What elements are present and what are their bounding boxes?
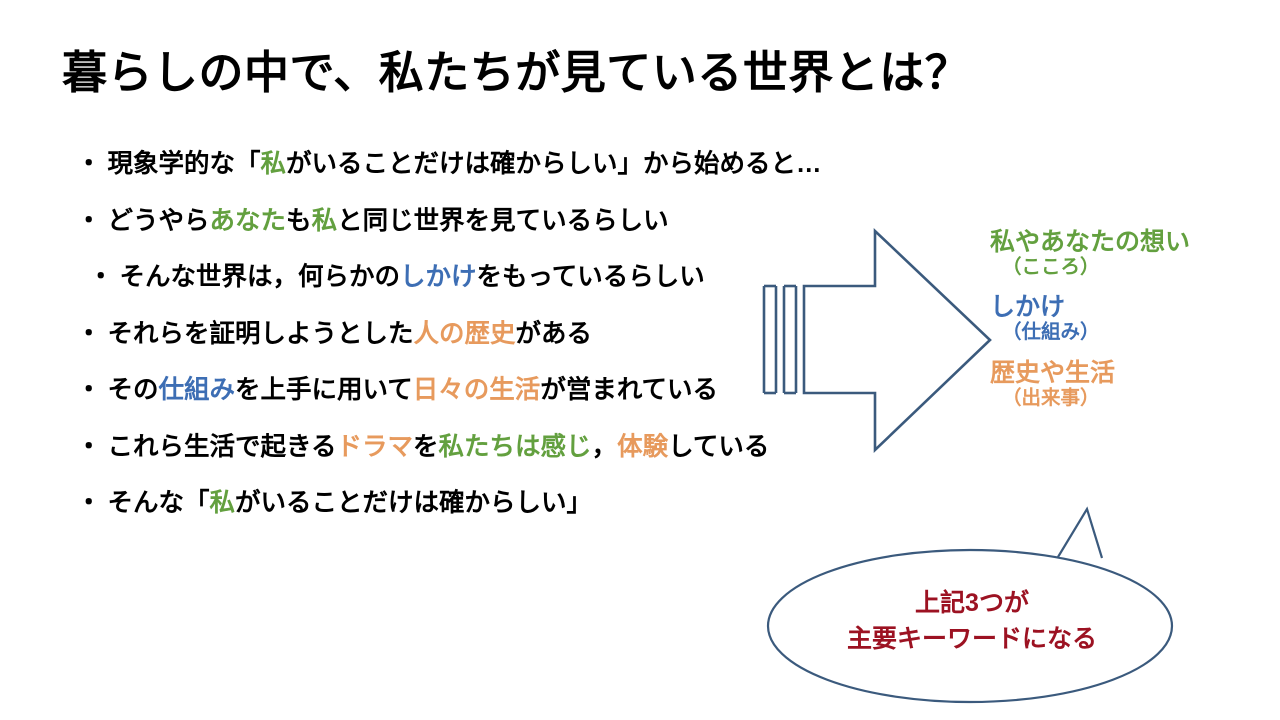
bullet-item: ・そんな世界は，何らかのしかけをもっているらしい [88, 263, 866, 293]
bullet-item: ・現象学的な「私がいることだけは確からしい」から始めると… [76, 150, 866, 180]
bullet-marker: ・ [76, 150, 102, 180]
bullet-list: ・現象学的な「私がいることだけは確からしい」から始めると…・どうやらあなたも私と… [76, 150, 866, 546]
bullet-text-segment: これら生活で起きる [108, 433, 337, 461]
bullet-text-segment: そんな「 [108, 489, 210, 517]
keyword-sub-label: （仕組み） [1002, 321, 1275, 344]
bullet-marker: ・ [76, 489, 102, 519]
bullet-text-segment: そんな世界は，何らかの [120, 263, 401, 291]
slide-canvas: 暮らしの中で、私たちが見ている世界とは？ ・現象学的な「私がいることだけは確から… [0, 0, 1280, 720]
bullet-text-segment: 現象学的な「 [108, 150, 261, 178]
bullet-item: ・その仕組みを上手に用いて日々の生活が営まれている [76, 376, 866, 406]
bullet-text-segment: 日々の生活 [413, 376, 541, 404]
keyword-sub-label: （出来事） [1002, 387, 1275, 410]
bullet-text: これら生活で起きるドラマを私たちは感じ，体験している [108, 433, 770, 463]
bullet-text-segment: と同じ世界を見ているらしい [337, 207, 669, 235]
bullet-text-segment: あなた [210, 207, 287, 235]
bullet-marker: ・ [76, 320, 102, 350]
bullet-text: そんな世界は，何らかのしかけをもっているらしい [120, 263, 705, 293]
bullet-text-segment: ドラマ [337, 433, 414, 461]
bullet-text-segment: がいることだけは確からしい」 [235, 489, 592, 517]
bullet-text-segment: 私 [261, 150, 287, 178]
keyword-block: 歴史や生活（出来事） [990, 359, 1275, 410]
bullet-text-segment: ， [592, 433, 618, 461]
bullet-text-segment: を上手に用いて [235, 376, 413, 404]
bullet-text-segment: している [668, 433, 769, 461]
keyword-main-label: 私やあなたの想い [990, 228, 1275, 256]
page-title: 暮らしの中で、私たちが見ている世界とは？ [62, 47, 970, 99]
bullet-text-segment: が営まれている [540, 376, 718, 404]
bullet-text: それらを証明しようとした人の歴史がある [108, 320, 593, 350]
bullet-text-segment: 私たちは感じ [439, 433, 592, 461]
bullet-text-segment: がある [516, 320, 593, 348]
bullet-text-segment: その [108, 376, 159, 404]
bullet-text: どうやらあなたも私と同じ世界を見ているらしい [108, 207, 669, 237]
bullet-text-segment: 人の歴史 [414, 320, 516, 348]
bullet-text-segment: 体験 [617, 433, 668, 461]
bullet-text-segment: をもっているらしい [477, 263, 705, 291]
keyword-block: 私やあなたの想い（こころ） [990, 228, 1275, 279]
keyword-block: しかけ（仕組み） [990, 293, 1275, 344]
bullet-text-segment: がいることだけは確からしい」から始めると… [286, 150, 822, 178]
keyword-main-label: 歴史や生活 [990, 359, 1275, 387]
bullet-item: ・どうやらあなたも私と同じ世界を見ているらしい [76, 207, 866, 237]
bullet-item: ・それらを証明しようとした人の歴史がある [76, 320, 866, 350]
bullet-text-segment: しかけ [400, 263, 477, 291]
bullet-marker: ・ [76, 207, 102, 237]
bullet-text: 現象学的な「私がいることだけは確からしい」から始めると… [108, 150, 822, 180]
bullet-text-segment: どうやら [108, 207, 210, 235]
bullet-marker: ・ [76, 376, 102, 406]
keyword-panel: 私やあなたの想い（こころ）しかけ（仕組み）歴史や生活（出来事） [990, 228, 1275, 424]
callout-bubble [762, 498, 1182, 708]
bullet-text-segment: 私 [210, 489, 236, 517]
keyword-sub-label: （こころ） [1002, 256, 1275, 279]
bullet-text-segment: 仕組み [159, 376, 236, 404]
bullet-item: ・そんな「私がいることだけは確からしい」 [76, 489, 866, 519]
bullet-text-segment: を [413, 433, 439, 461]
bullet-item: ・これら生活で起きるドラマを私たちは感じ，体験している [76, 433, 866, 463]
keyword-main-label: しかけ [990, 293, 1275, 321]
bullet-marker: ・ [76, 433, 102, 463]
bullet-text-segment: も [286, 207, 312, 235]
bullet-text-segment: それらを証明しようとした [108, 320, 414, 348]
bullet-text-segment: 私 [312, 207, 338, 235]
right-arrow-icon [758, 222, 998, 457]
bullet-text: その仕組みを上手に用いて日々の生活が営まれている [108, 376, 719, 406]
bullet-marker: ・ [88, 263, 114, 293]
bullet-text: そんな「私がいることだけは確からしい」 [108, 489, 593, 519]
